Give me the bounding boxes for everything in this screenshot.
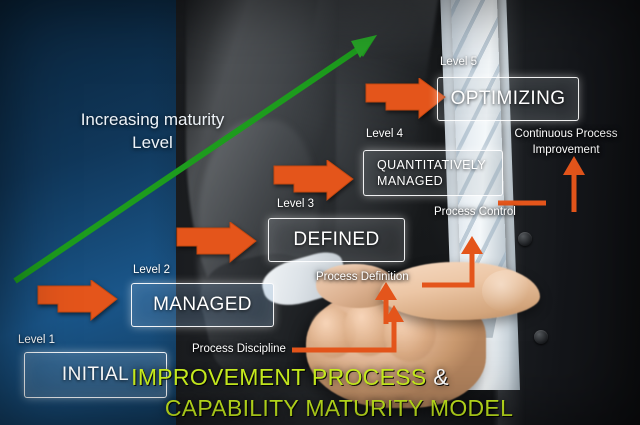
level-2-name: MANAGED [153,293,252,317]
level-2-label: Level 2 [133,264,170,276]
level-3-box[interactable]: DEFINED [268,218,405,262]
step-arrow-2 [175,222,258,267]
level-4-name-line1: QUANTITATIVELY [377,157,486,173]
level-4-name-line2: MANAGED [377,173,443,189]
callout-cpi-line2: Improvement [532,144,599,156]
level-5-box[interactable]: OPTIMIZING [437,77,579,121]
step-arrow-4 [364,78,447,123]
title-line-1: IMPROVEMENT PROCESS & [0,362,640,393]
callout-process-discipline: Process Discipline [192,343,286,355]
callout-cpi-line1: Continuous Process [515,128,618,140]
callout-process-control: Process Control [434,206,516,218]
level-3-name: DEFINED [293,228,379,252]
heading-line2: Level [132,133,173,152]
level-4-box[interactable]: QUANTITATIVELY MANAGED [363,150,503,196]
jacket-button-upper [518,232,532,246]
title-line-2: CAPABILITY MATURITY MODEL [0,393,640,424]
level-3-label: Level 3 [277,198,314,210]
increasing-maturity-heading: Increasing maturity Level [40,108,265,155]
level-1-label: Level 1 [18,334,55,346]
title-ampersand: & [433,364,449,390]
page-title: IMPROVEMENT PROCESS & CAPABILITY MATURIT… [0,362,640,423]
level-5-name: OPTIMIZING [451,87,566,111]
level-2-box[interactable]: MANAGED [131,283,274,327]
callout-continuous-process-improvement: Continuous Process Improvement [505,127,627,158]
level-4-label: Level 4 [366,128,403,140]
title-line-1-text: IMPROVEMENT PROCESS [131,364,426,390]
step-arrow-1 [36,280,119,325]
cmm-infographic: Level 1 INITIAL Level 2 MANAGED Level 3 … [0,0,640,425]
fingertip-highlight [482,270,530,312]
heading-line1: Increasing maturity [81,110,225,129]
level-5-label: Level 5 [440,56,477,68]
callout-process-definition: Process Definition [316,271,409,283]
